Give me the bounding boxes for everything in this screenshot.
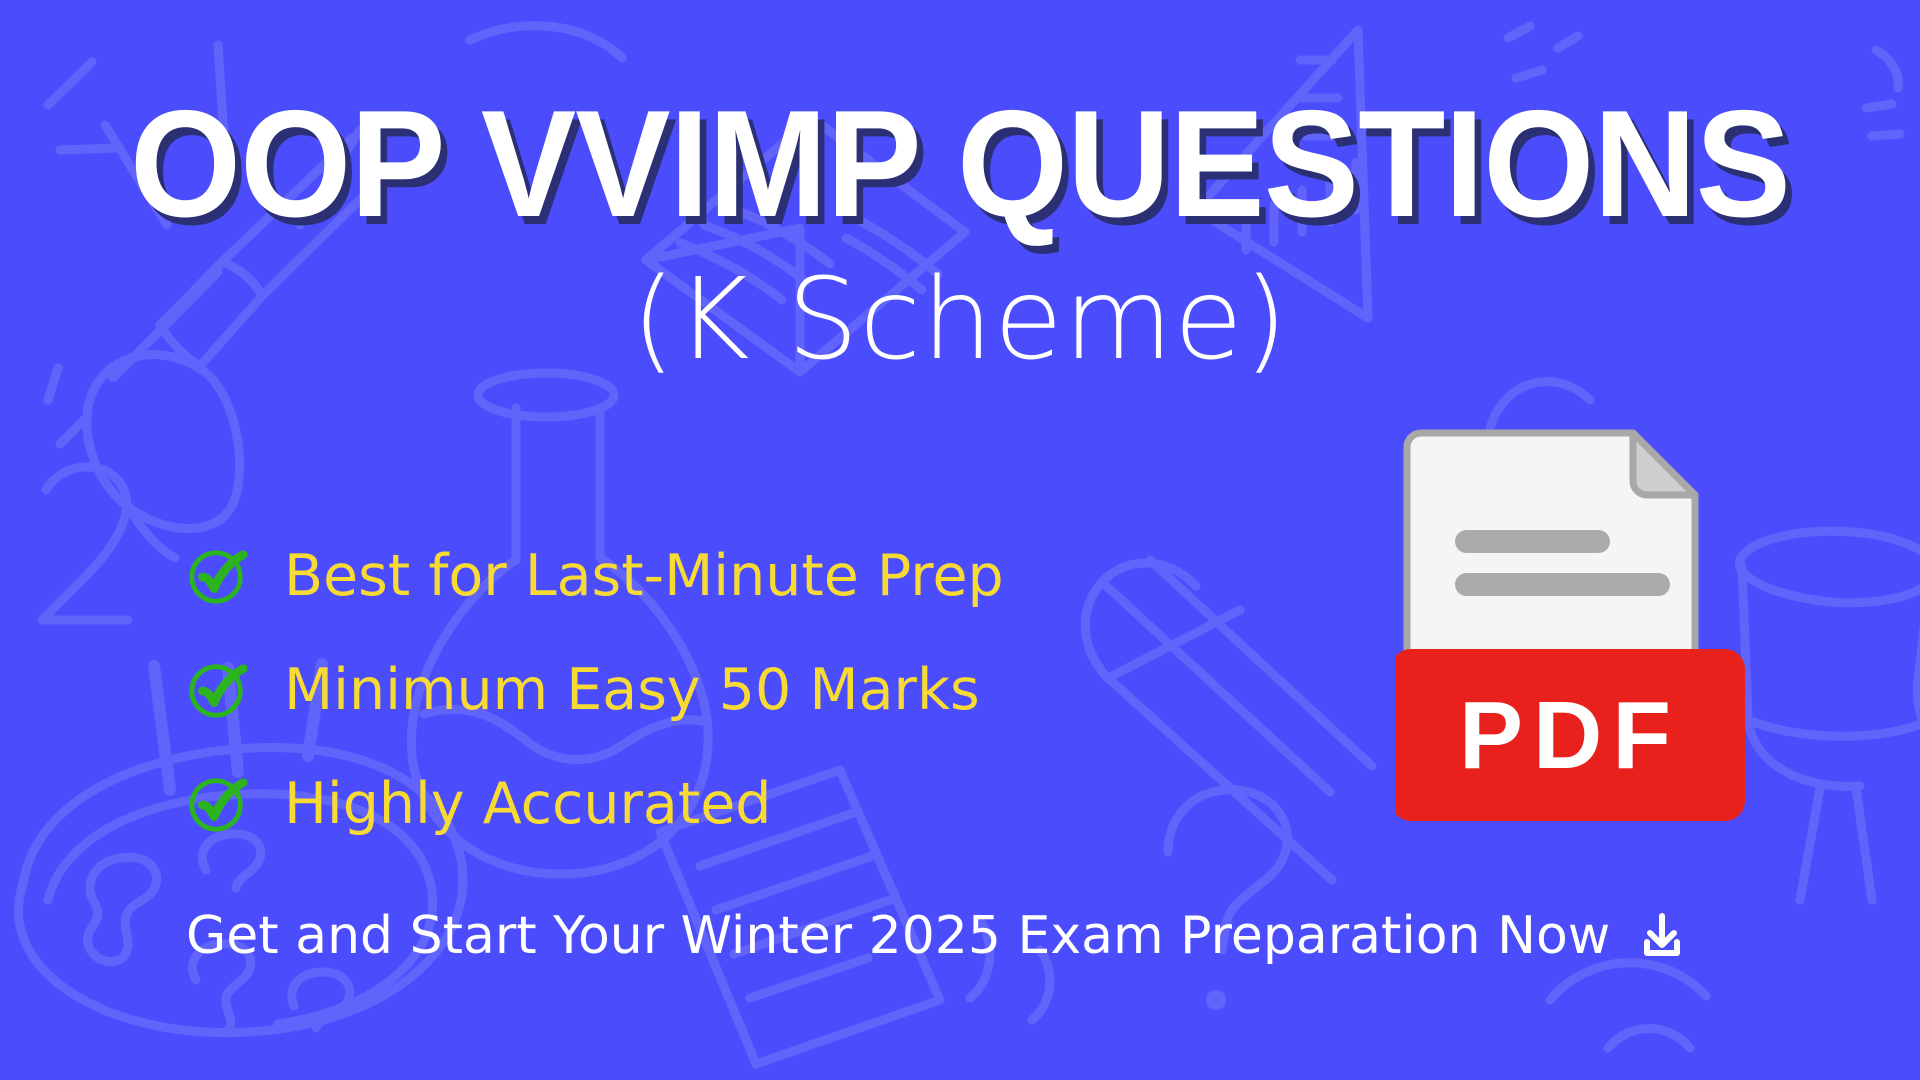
list-item-label: Best for Last-Minute Prep (284, 548, 1004, 605)
list-item: Minimum Easy 50 Marks (186, 659, 1004, 721)
doodle-number-two (42, 368, 128, 620)
pdf-file-icon[interactable]: PDF (1395, 425, 1745, 845)
doodle-arc-topcenter (470, 26, 622, 58)
cta-text: Get and Start Your Winter 2025 Exam Prep… (186, 910, 1610, 962)
check-circle-icon (186, 659, 248, 721)
pdf-badge-label: PDF (1459, 682, 1681, 789)
feature-list: Best for Last-Minute Prep Minimum Easy 5… (186, 545, 1004, 835)
check-circle-icon (186, 773, 248, 835)
cta-row[interactable]: Get and Start Your Winter 2025 Exam Prep… (186, 910, 1688, 962)
doodle-arcs-bottomright (1550, 963, 1706, 1048)
list-item: Highly Accurated (186, 773, 1004, 835)
download-icon[interactable] (1636, 910, 1688, 962)
list-item: Best for Last-Minute Prep (186, 545, 1004, 607)
doodle-pencil (1085, 560, 1372, 880)
poster-canvas: OOP VVIMP QUESTIONS (K Scheme) Best for … (0, 0, 1920, 1080)
list-item-label: Minimum Easy 50 Marks (284, 662, 980, 719)
page-title: OOP VVIMP QUESTIONS (58, 88, 1863, 240)
doodle-question-mark (1168, 790, 1287, 1010)
title-block: OOP VVIMP QUESTIONS (K Scheme) (0, 88, 1920, 380)
page-subtitle: (K Scheme) (0, 262, 1920, 380)
list-item-label: Highly Accurated (284, 776, 771, 833)
check-circle-icon (186, 545, 248, 607)
pdf-page-fold (1633, 433, 1695, 495)
pdf-badge: PDF (1395, 649, 1745, 821)
doodle-pushpin (1740, 531, 1920, 900)
